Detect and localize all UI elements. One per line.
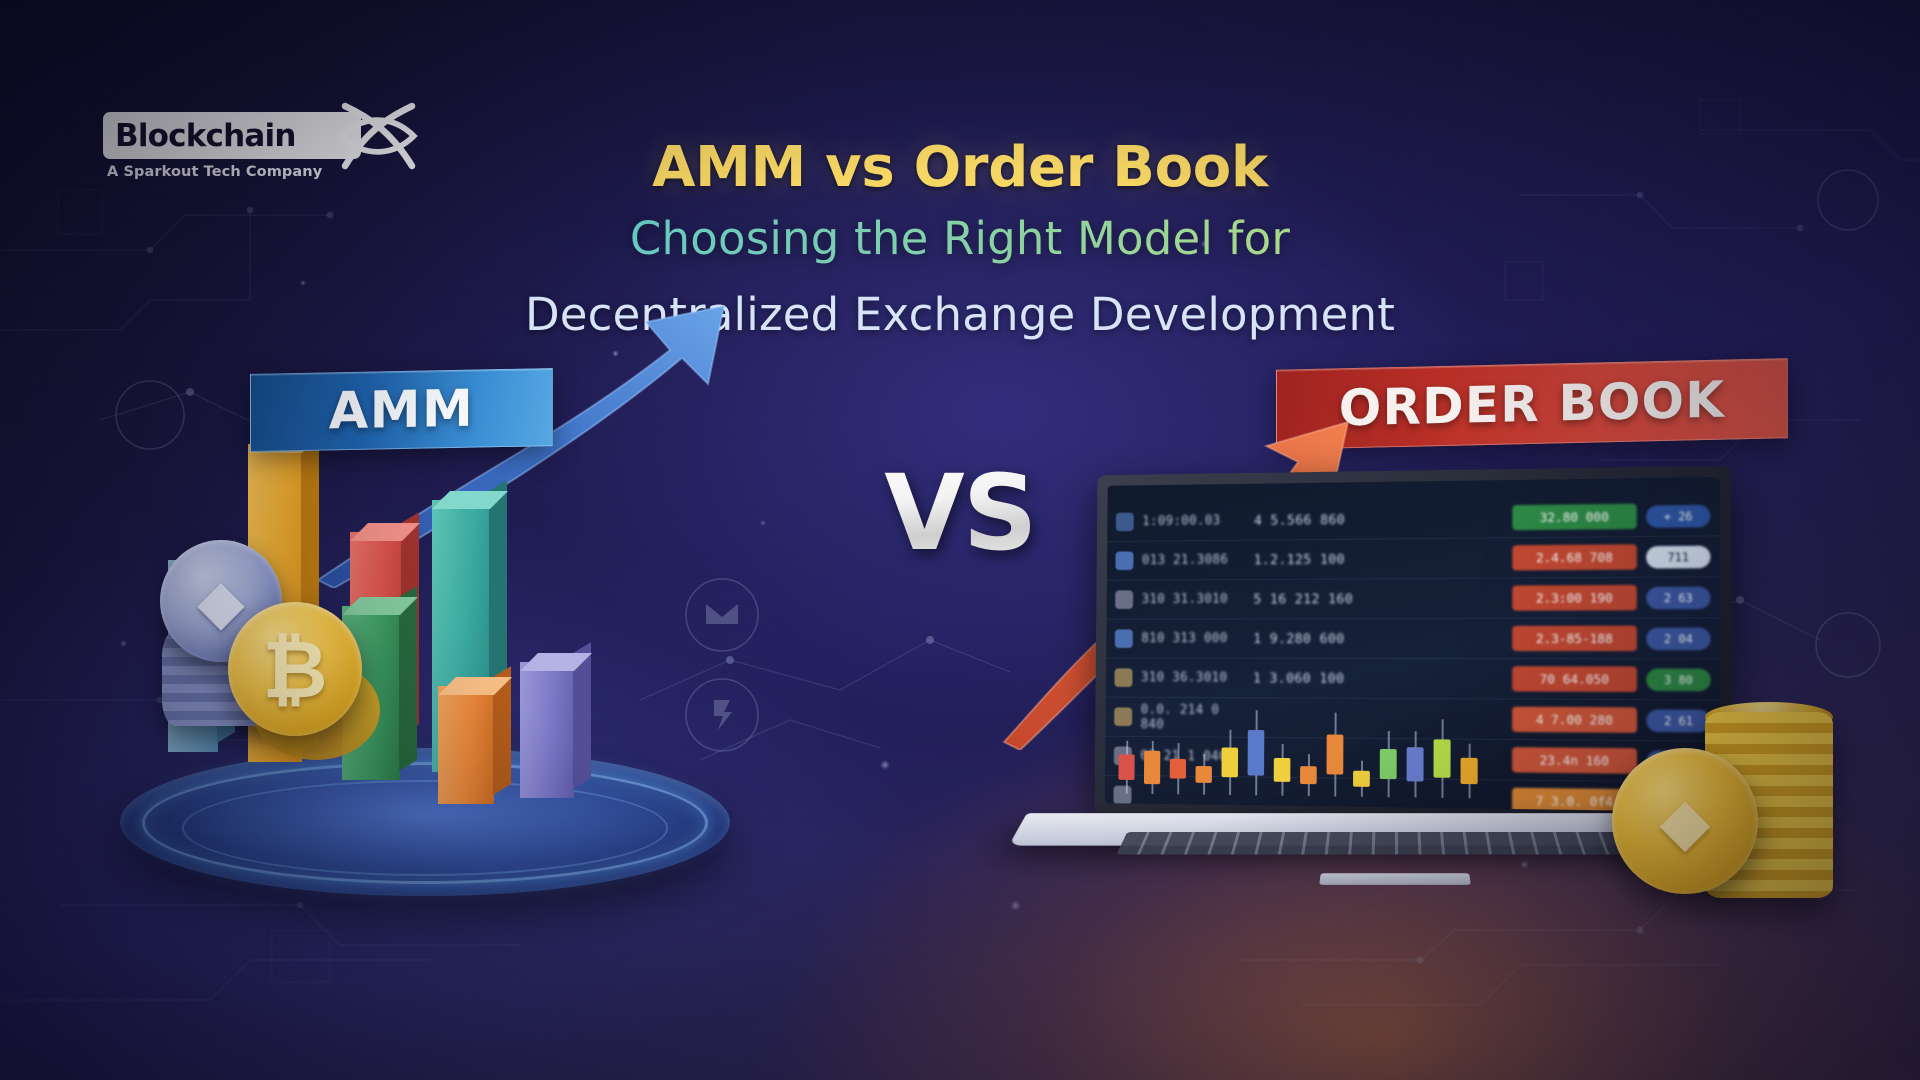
trading-row[interactable]: 810 313 0001 9.280 6002.3-85-1882 04	[1106, 618, 1720, 659]
candlestick	[1195, 766, 1211, 783]
amm-badge[interactable]: AMM	[250, 368, 553, 452]
row-price-pill[interactable]: 2.3:00 190	[1512, 585, 1637, 611]
row-change-tag[interactable]: 711	[1646, 545, 1710, 568]
candlestick	[1274, 758, 1291, 782]
row-value-a: 1:09:00.03	[1142, 513, 1245, 529]
gold-token-coin: ◆	[1612, 748, 1758, 894]
row-change-tag[interactable]: + 26	[1646, 504, 1710, 527]
row-value-b	[1253, 718, 1374, 719]
laptop-keyboard	[1117, 832, 1668, 854]
laptop-trackpad	[1319, 873, 1471, 885]
bitcoin-coin: ₿	[228, 602, 362, 736]
row-change-tag[interactable]: 3 80	[1646, 668, 1711, 691]
bar-6	[438, 686, 494, 804]
row-value-b: 1 9.280 600	[1253, 631, 1374, 647]
ring-node-icon	[1816, 613, 1880, 677]
candlestick	[1118, 754, 1134, 780]
amm-badge-label: AMM	[329, 379, 474, 441]
trading-row[interactable]: 0.0. 214 0 8404 7.00 2802 61	[1106, 698, 1721, 742]
banner-canvas: Blockchain A Sparkout Tech Company AMM v…	[0, 0, 1920, 1080]
trading-row[interactable]: 310 36.30101 3.060 10070 64.0503 80	[1106, 659, 1720, 701]
row-value-a: 310 36.3010	[1141, 670, 1244, 685]
candlestick	[1327, 734, 1344, 774]
candlestick	[1144, 751, 1160, 785]
row-marker-icon	[1113, 786, 1131, 805]
row-price-pill[interactable]: 70 64.050	[1512, 666, 1637, 692]
row-change-tag[interactable]: 2 63	[1646, 586, 1711, 609]
row-price-pill[interactable]: 4 7.00 280	[1512, 707, 1637, 733]
candlestick	[1170, 759, 1186, 779]
order-book-badge-label: ORDER BOOK	[1339, 371, 1725, 438]
row-value-a: 810 313 000	[1141, 631, 1244, 646]
row-marker-icon	[1115, 551, 1133, 570]
row-change-tag[interactable]: 2 04	[1646, 627, 1711, 650]
candlestick	[1248, 730, 1265, 776]
row-marker-icon	[1114, 707, 1132, 726]
subtitle-line-1: Choosing the Right Model for	[0, 212, 1920, 265]
row-price-pill[interactable]: 2.3-85-188	[1512, 626, 1637, 651]
row-value-b: 5 16 212 160	[1253, 591, 1374, 607]
row-value-b: 4 5.566 860	[1254, 511, 1375, 528]
trading-row[interactable]: 1:09:00.034 5.566 86032.80 000+ 26	[1107, 495, 1720, 542]
row-value-b: 1 3.060 100	[1253, 670, 1374, 686]
trading-row[interactable]: 013 21.30861.2.125 1002.4.68 708711	[1107, 536, 1720, 580]
candlestick	[1221, 747, 1238, 777]
row-value-a	[1140, 795, 1244, 796]
bar-7	[520, 662, 574, 798]
candlestick	[1380, 749, 1397, 779]
candlestick	[1461, 758, 1478, 784]
row-value-a: 0.0. 214 0 840	[1141, 702, 1245, 732]
candlestick	[1353, 771, 1370, 787]
row-marker-icon	[1116, 513, 1134, 532]
row-marker-icon	[1115, 590, 1133, 609]
candlestick	[1407, 747, 1424, 781]
candlestick	[1300, 766, 1317, 784]
trading-row[interactable]: 310 31.30105 16 212 1602.3:00 1902 63	[1107, 577, 1721, 619]
row-value-b	[1253, 757, 1374, 758]
page-title: AMM vs Order Book	[0, 135, 1920, 200]
row-price-pill[interactable]: 32.80 000	[1512, 504, 1636, 531]
row-value-b	[1252, 797, 1373, 799]
row-marker-icon	[1115, 629, 1133, 648]
candlestick	[1434, 739, 1451, 777]
row-value-a: 310 31.3010	[1142, 592, 1245, 607]
platform-inner-ring	[182, 780, 668, 876]
row-marker-icon	[1114, 668, 1132, 687]
row-price-pill[interactable]: 2.4.68 708	[1512, 544, 1637, 570]
row-value-b: 1.2.125 100	[1254, 551, 1375, 568]
row-change-tag[interactable]: 2 61	[1646, 709, 1711, 732]
row-value-a: 013 21.3086	[1142, 552, 1245, 567]
